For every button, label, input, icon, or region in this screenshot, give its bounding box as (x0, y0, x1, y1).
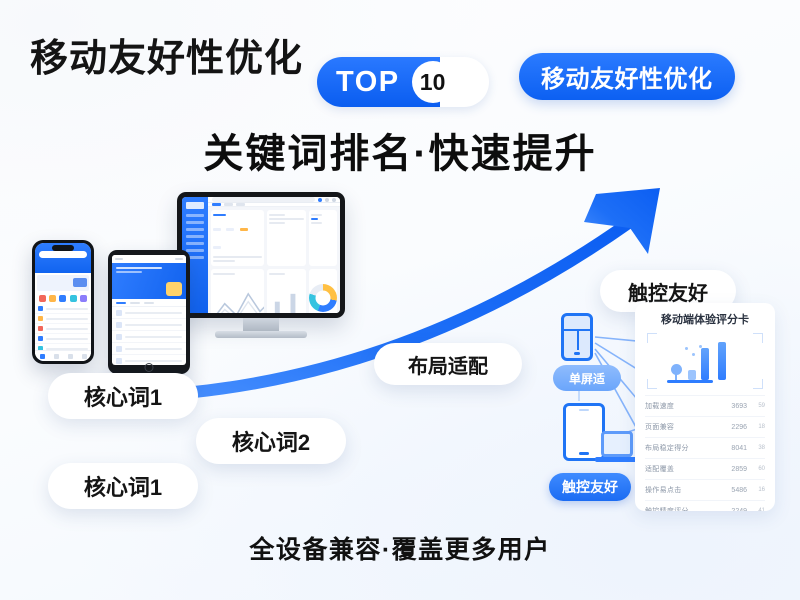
phone-speaker (579, 409, 589, 411)
diagram-tag-single-screen: 单屏适 (553, 365, 621, 391)
score-row-delta: 18 (747, 424, 765, 430)
score-row: 操作易点击 5486 16 (645, 479, 765, 500)
mobile-experience-diagram: 单屏适 触控友好 移动端体验评分卡 (545, 303, 775, 518)
donut-chart (309, 284, 337, 312)
dashboard-tab (224, 203, 233, 206)
tablet-statusbar (112, 255, 186, 263)
tablet-list-item (112, 331, 186, 343)
viz-baseline (667, 380, 713, 383)
list-text (125, 336, 182, 338)
score-row-value: 2859 (721, 466, 747, 473)
viz-dot (692, 353, 695, 356)
quick-icon (70, 295, 77, 302)
monitor-stand-base (215, 331, 307, 338)
hero-line (116, 267, 162, 269)
phone-banner (37, 275, 89, 291)
card-line (213, 256, 262, 258)
score-row-delta: 60 (747, 466, 765, 472)
score-row-name: 布局稳定得分 (645, 443, 721, 453)
feature-pill-layout[interactable]: 布局适配 (374, 343, 522, 385)
filter-chip (240, 228, 248, 231)
card-heading-line (213, 214, 226, 216)
list-icon (38, 306, 43, 311)
diagram-tag-touch-friendly: 触控友好 (549, 473, 631, 501)
dashboard-nav-item (186, 242, 204, 245)
quick-icon (80, 295, 87, 302)
viz-bar (701, 348, 709, 380)
quick-icon (39, 295, 46, 302)
viz-corner (753, 333, 763, 343)
filter-chip (213, 228, 221, 231)
dashboard-avatar-dot (332, 198, 336, 202)
dashboard-filter-card (211, 210, 264, 266)
dashboard-nav-item (186, 214, 204, 217)
phone-list-item (35, 334, 91, 344)
line-chart (211, 286, 264, 313)
dashboard-tab (236, 203, 245, 206)
footer-caption: 全设备兼容·覆盖更多用户 (0, 530, 800, 566)
phone-search-bar (39, 251, 87, 258)
phone-list-item (35, 304, 91, 314)
score-row-delta: 16 (747, 487, 765, 493)
card-line (213, 273, 235, 275)
tabbar-icon (68, 354, 73, 359)
list-icon (116, 358, 122, 364)
tablet-tabs (112, 299, 186, 307)
quick-icon (49, 295, 56, 302)
statusbar-left (115, 258, 123, 260)
list-text (46, 328, 88, 330)
viz-marker-stem (675, 373, 677, 380)
score-card: 移动端体验评分卡 加载速度 3693 59 (635, 303, 775, 511)
tablet-screen (112, 255, 186, 365)
tablet-tab (130, 302, 140, 304)
score-row: 页面兼容 2296 18 (645, 416, 765, 437)
score-row: 加载速度 3693 59 (645, 395, 765, 416)
tablet-body (108, 250, 190, 374)
card-line (269, 273, 285, 275)
viz-corner (647, 379, 657, 389)
list-icon (38, 336, 43, 341)
tabbar-icon (82, 354, 87, 359)
dashboard-bar-chart-card (267, 269, 306, 313)
score-row: 适配覆盖 2859 60 (645, 458, 765, 479)
dashboard-avatar-dot (325, 198, 329, 202)
hero-line (116, 271, 142, 273)
keyword-pill-3[interactable]: 核心词1 (48, 463, 198, 509)
top-rank-badge: TOP 10 (317, 57, 489, 107)
score-row-delta: 38 (747, 445, 765, 451)
list-icon (38, 316, 43, 321)
desktop-monitor (177, 192, 345, 342)
hero-illustration (166, 282, 182, 296)
dashboard-stat-card (267, 210, 306, 266)
laptop-lid (601, 431, 633, 457)
card-line (311, 218, 317, 220)
list-icon (116, 322, 122, 328)
tablet-list-item (112, 343, 186, 355)
dashboard-side-card (309, 210, 337, 266)
tablet-list-item (112, 319, 186, 331)
quick-icon (59, 295, 66, 302)
phone-list-item (35, 314, 91, 324)
dashboard-tab (212, 203, 221, 206)
dashboard-nav-item (186, 235, 204, 238)
filter-chip (213, 246, 221, 249)
filter-chip (226, 228, 234, 231)
score-row-name: 加载速度 (645, 401, 721, 411)
diagram-phone-top-icon (561, 313, 593, 361)
score-row-value: 8041 (721, 445, 747, 452)
score-row-value: 5486 (721, 487, 747, 494)
card-line (269, 222, 285, 224)
statusbar-right (175, 258, 183, 260)
phone-screen (35, 243, 91, 361)
dashboard-main (208, 197, 340, 313)
dashboard-nav-item (186, 221, 204, 224)
dashboard-donut-card (309, 269, 337, 313)
diagram-laptop-icon (595, 431, 639, 465)
tablet-hero-banner (112, 263, 186, 299)
poster-canvas: 移动友好性优化 TOP 10 移动友好性优化 关键词排名·快速提升 (0, 0, 800, 600)
card-line (213, 260, 235, 262)
phone-notch (52, 245, 74, 251)
card-line (311, 222, 322, 224)
score-row-name: 触控精度评分 (645, 506, 721, 511)
phone-device (32, 240, 94, 364)
laptop-base (595, 457, 639, 462)
phone-quick-icons (35, 293, 91, 304)
phone-split-line-v (577, 329, 579, 350)
score-row-value: 2249 (721, 508, 747, 512)
score-row-name: 页面兼容 (645, 422, 721, 432)
list-icon (116, 310, 122, 316)
bar-chart (267, 286, 306, 313)
tablet-list-item (112, 307, 186, 319)
phone-tabbar (35, 350, 91, 361)
card-line (269, 218, 304, 220)
viz-dot (685, 347, 688, 350)
card-line (269, 214, 285, 216)
viz-corner (753, 379, 763, 389)
phone-body (32, 240, 94, 364)
score-row: 触控精度评分 2249 41 (645, 500, 765, 511)
dashboard-logo (186, 202, 204, 209)
list-text (46, 318, 88, 320)
phone-home-indicator (579, 452, 589, 455)
dashboard-search-bar (212, 197, 315, 202)
dashboard-avatar-dot (318, 198, 322, 202)
phone-list-item (35, 324, 91, 334)
list-icon (116, 346, 122, 352)
score-row-delta: 59 (747, 403, 765, 409)
phone-home-indicator (574, 352, 580, 355)
list-text (125, 324, 182, 326)
tabbar-icon (54, 354, 59, 359)
header-tag: 移动友好性优化 (519, 53, 735, 100)
score-row-value: 2296 (721, 424, 747, 431)
list-text (125, 312, 182, 314)
list-text (46, 338, 88, 340)
score-row-value: 3693 (721, 403, 747, 410)
list-text (46, 308, 88, 310)
tablet-tab (144, 302, 154, 304)
tablet-tab (116, 302, 126, 304)
list-icon (116, 334, 122, 340)
list-icon (38, 326, 43, 331)
dashboard-line-chart-card (211, 269, 264, 313)
dashboard-nav-item (186, 228, 204, 231)
tablet-device (108, 250, 190, 374)
top-badge-word: TOP (336, 66, 400, 99)
score-row-delta: 41 (747, 508, 765, 511)
tabbar-icon (40, 354, 45, 359)
viz-corner (647, 333, 657, 343)
score-row-name: 操作易点击 (645, 485, 721, 495)
score-row: 布局稳定得分 8041 38 (645, 437, 765, 458)
monitor-screen (182, 197, 340, 313)
keyword-pill-2[interactable]: 核心词2 (196, 418, 346, 464)
score-card-title: 移动端体验评分卡 (645, 311, 765, 327)
viz-bar (718, 342, 726, 380)
device-mockup-group (22, 192, 342, 392)
viz-bar (688, 370, 696, 380)
score-row-name: 适配覆盖 (645, 464, 721, 474)
list-text (125, 360, 182, 362)
banner-card-icon (73, 278, 87, 287)
monitor-bezel (177, 192, 345, 318)
top-badge-rank: 10 (412, 61, 454, 103)
tablet-home-button (145, 363, 154, 372)
page-title: 移动友好性优化 (30, 27, 303, 82)
dashboard-widget-grid (208, 207, 340, 313)
keyword-pill-1[interactable]: 核心词1 (48, 373, 198, 419)
card-line (311, 214, 322, 216)
list-text (125, 348, 182, 350)
score-card-visualization (645, 333, 765, 389)
